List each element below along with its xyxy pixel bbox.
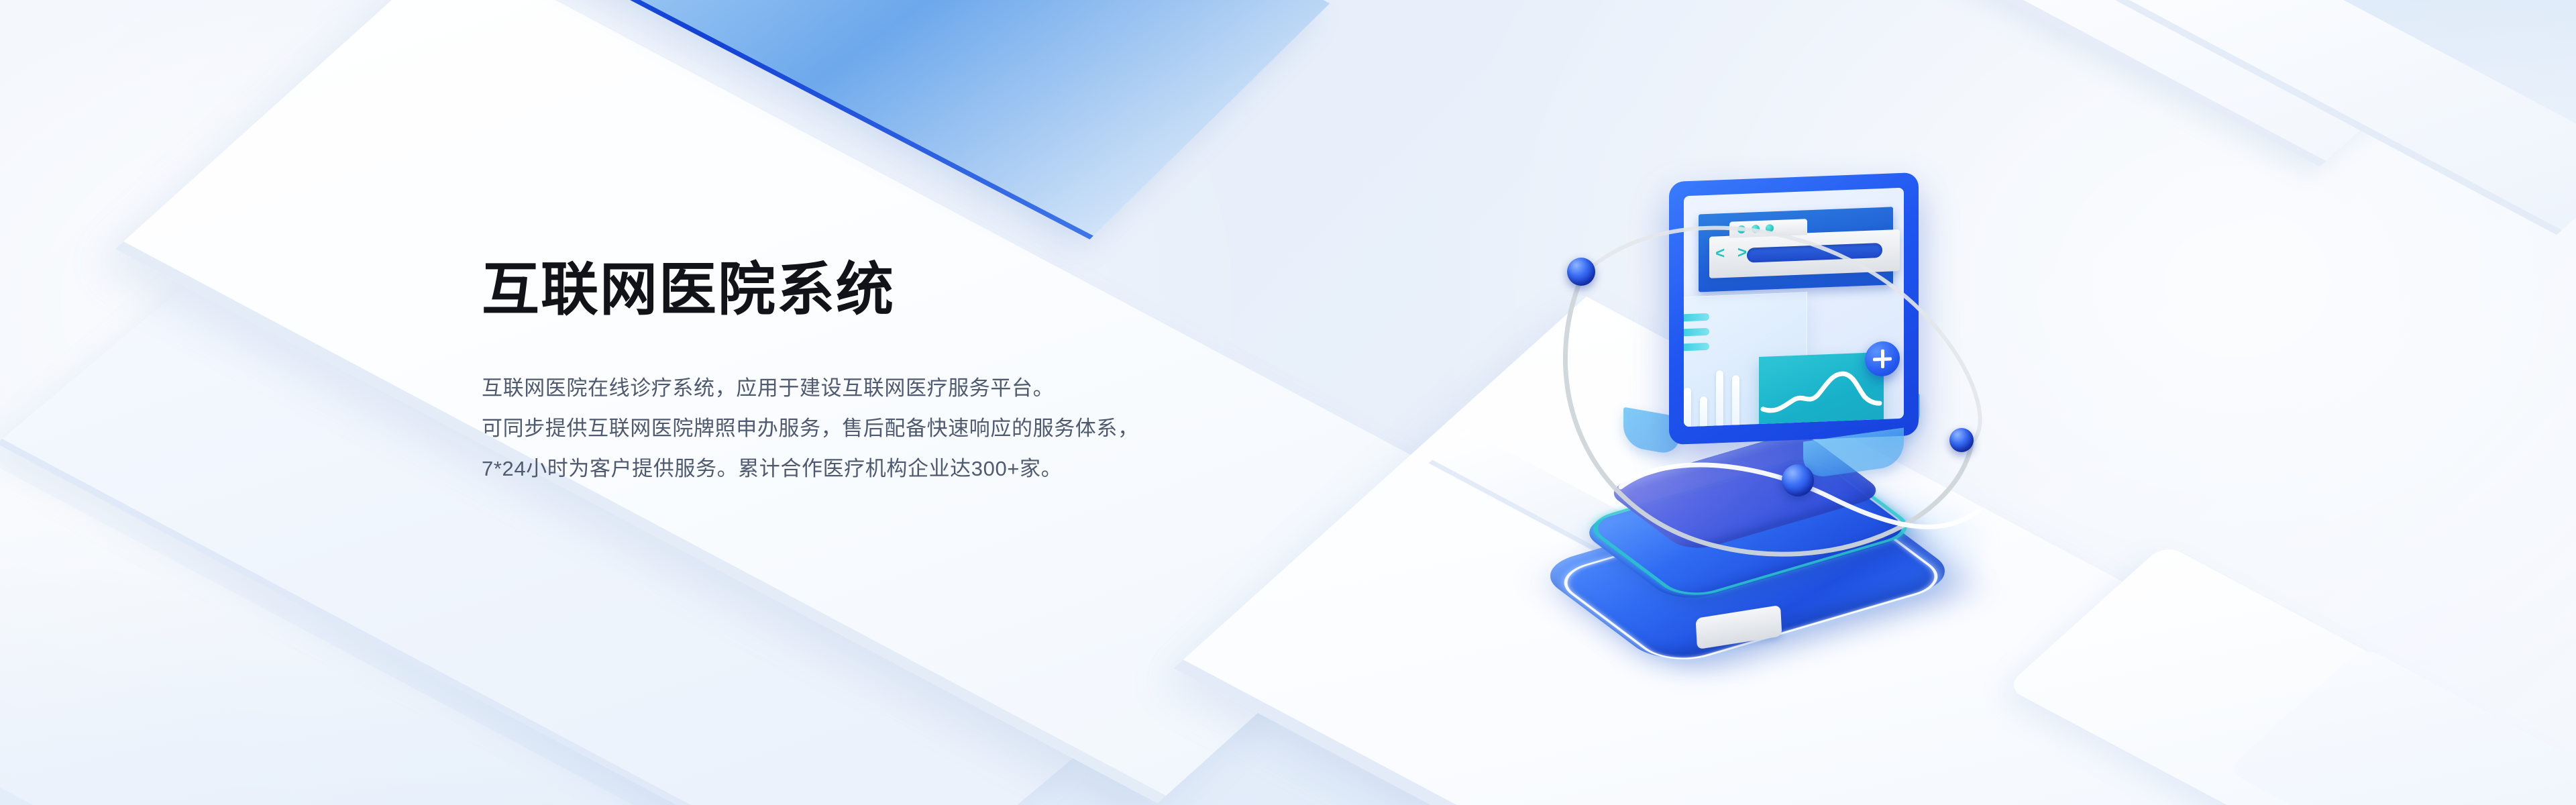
hero-copy: 互联网医院系统 互联网医院在线诊疗系统，应用于建设互联网医疗服务平台。 可同步提… — [482, 259, 1320, 489]
hero-banner: 互联网医院系统 互联网医院在线诊疗系统，应用于建设互联网医疗服务平台。 可同步提… — [0, 0, 2576, 805]
description-line-2: 可同步提供互联网医院牌照申办服务，售后配备快速响应的服务体系， — [482, 409, 1320, 449]
description-line-1: 互联网医院在线诊疗系统，应用于建设互联网医疗服务平台。 — [482, 368, 1320, 409]
orbit-sphere-top-left — [1567, 258, 1595, 286]
orbit-sphere-right — [1949, 428, 1974, 452]
description-line-3: 7*24小时为客户提供服务。累计合作医疗机构企业达300+家。 — [482, 449, 1320, 489]
orbit-wires — [1543, 161, 2026, 644]
page-title: 互联网医院系统 — [482, 259, 1320, 321]
orbit-sphere-center — [1782, 464, 1814, 496]
hero-illustration: < > — [1543, 161, 2026, 644]
hero-description: 互联网医院在线诊疗系统，应用于建设互联网医疗服务平台。 可同步提供互联网医院牌照… — [482, 368, 1320, 489]
